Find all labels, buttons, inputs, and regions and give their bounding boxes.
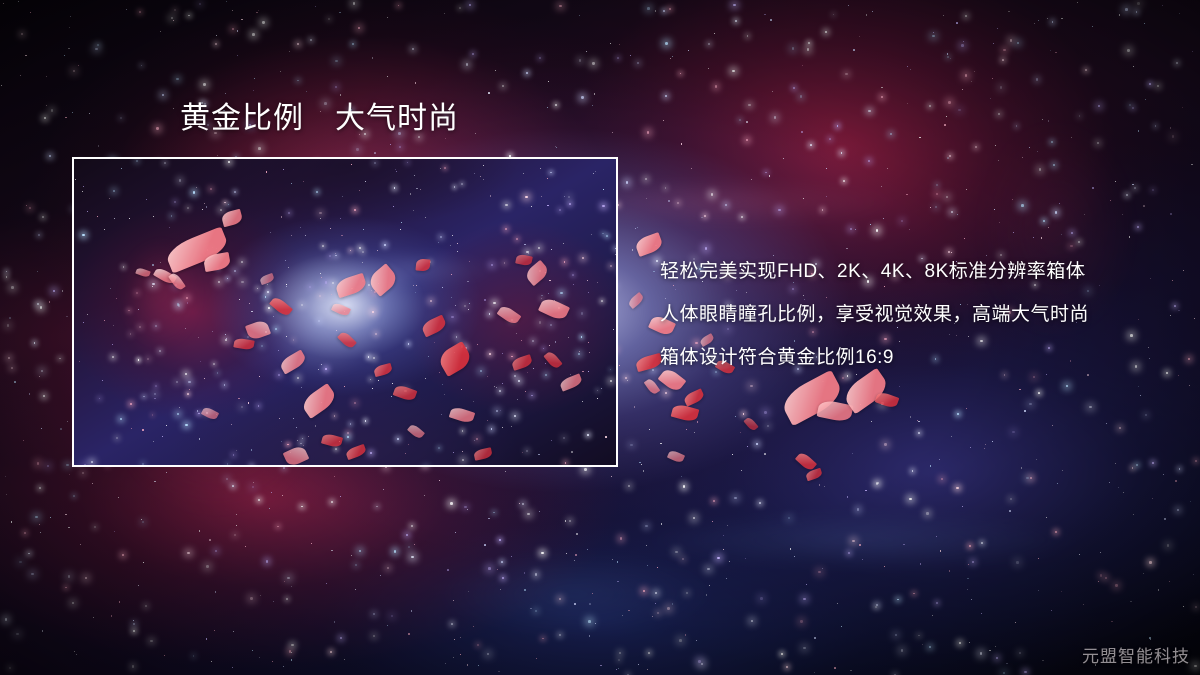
petal — [221, 209, 244, 228]
petal — [795, 451, 817, 473]
body-line-3: 箱体设计符合黄金比例16:9 — [660, 336, 1180, 379]
presentation-slide: 黄金比例 大气时尚 轻松完美实现FHD、2K、4K、8K标准分辨率箱体 人体眼睛… — [0, 0, 1200, 675]
petal — [233, 337, 254, 350]
body-text-block: 轻松完美实现FHD、2K、4K、8K标准分辨率箱体 人体眼睛瞳孔比例，享受视觉效… — [660, 250, 1180, 379]
petal — [334, 273, 368, 298]
petal — [393, 384, 418, 403]
petal — [627, 292, 645, 309]
petal — [407, 423, 425, 440]
petal — [283, 444, 310, 467]
petal — [203, 252, 231, 272]
petal — [135, 267, 151, 278]
petal — [667, 449, 685, 464]
petal — [559, 373, 584, 391]
petal — [817, 399, 854, 424]
petal — [299, 383, 338, 419]
petal — [321, 433, 343, 449]
body-line-1: 轻松完美实现FHD、2K、4K、8K标准分辨率箱体 — [660, 250, 1180, 293]
watermark: 元盟智能科技 — [1082, 642, 1190, 667]
petal — [511, 354, 533, 371]
petal — [635, 353, 663, 372]
petal — [201, 406, 219, 421]
petal — [331, 302, 351, 318]
petal — [875, 391, 900, 410]
petal — [644, 377, 661, 395]
petal — [153, 266, 177, 286]
petal — [259, 273, 275, 285]
petal — [671, 403, 700, 423]
petal — [420, 315, 448, 338]
petal — [163, 226, 230, 273]
body-line-2: 人体眼睛瞳孔比例，享受视觉效果，高端大气时尚 — [660, 293, 1180, 336]
image-frame — [72, 157, 618, 467]
petal — [497, 304, 522, 326]
petal — [373, 363, 393, 377]
petal — [245, 319, 271, 342]
petal — [683, 388, 706, 406]
petal — [449, 406, 476, 425]
petal — [345, 444, 367, 460]
petal — [523, 260, 550, 286]
petal — [543, 350, 562, 370]
petal — [269, 295, 293, 318]
petal — [473, 447, 493, 461]
petal — [366, 263, 400, 297]
petal — [436, 341, 474, 377]
petal — [515, 253, 533, 266]
petal — [805, 468, 823, 482]
petal — [168, 272, 186, 292]
petal — [278, 349, 308, 374]
petal — [337, 330, 357, 350]
slide-title: 黄金比例 大气时尚 — [180, 101, 459, 137]
petal-field-inner — [74, 159, 616, 465]
petal — [538, 296, 570, 322]
petal — [743, 416, 758, 432]
petal — [416, 258, 431, 271]
